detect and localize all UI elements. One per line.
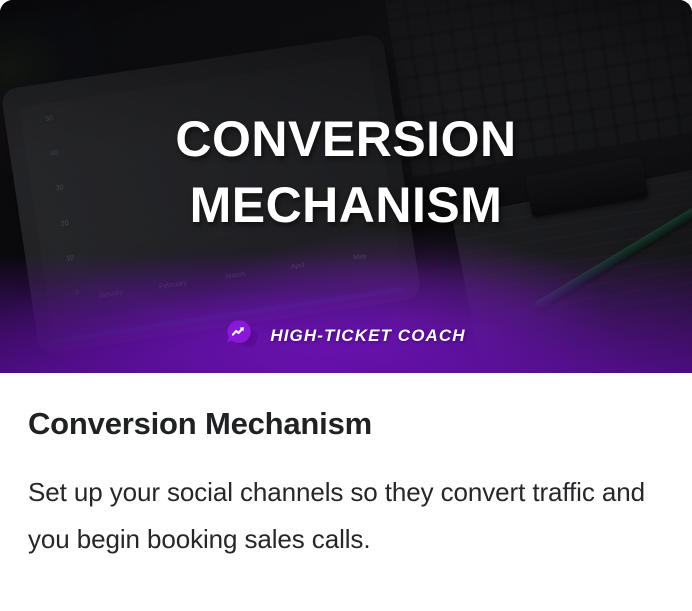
course-description: Set up your social channels so they conv… [28,469,653,563]
brand-logo: HIGH-TICKET COACH [0,319,692,353]
hero-title: CONVERSION MECHANISM [146,106,546,238]
speech-bubble-growth-arrow-icon [226,319,260,353]
course-card: 01020304050 JanuaryFebruaryMarchAprilMay… [0,0,692,611]
course-title: Conversion Mechanism [28,406,664,443]
hero-content: CONVERSION MECHANISM [0,0,692,373]
course-hero-banner: 01020304050 JanuaryFebruaryMarchAprilMay… [0,0,692,373]
brand-name: HIGH-TICKET COACH [270,326,465,346]
course-card-body: Conversion Mechanism Set up your social … [0,373,692,563]
